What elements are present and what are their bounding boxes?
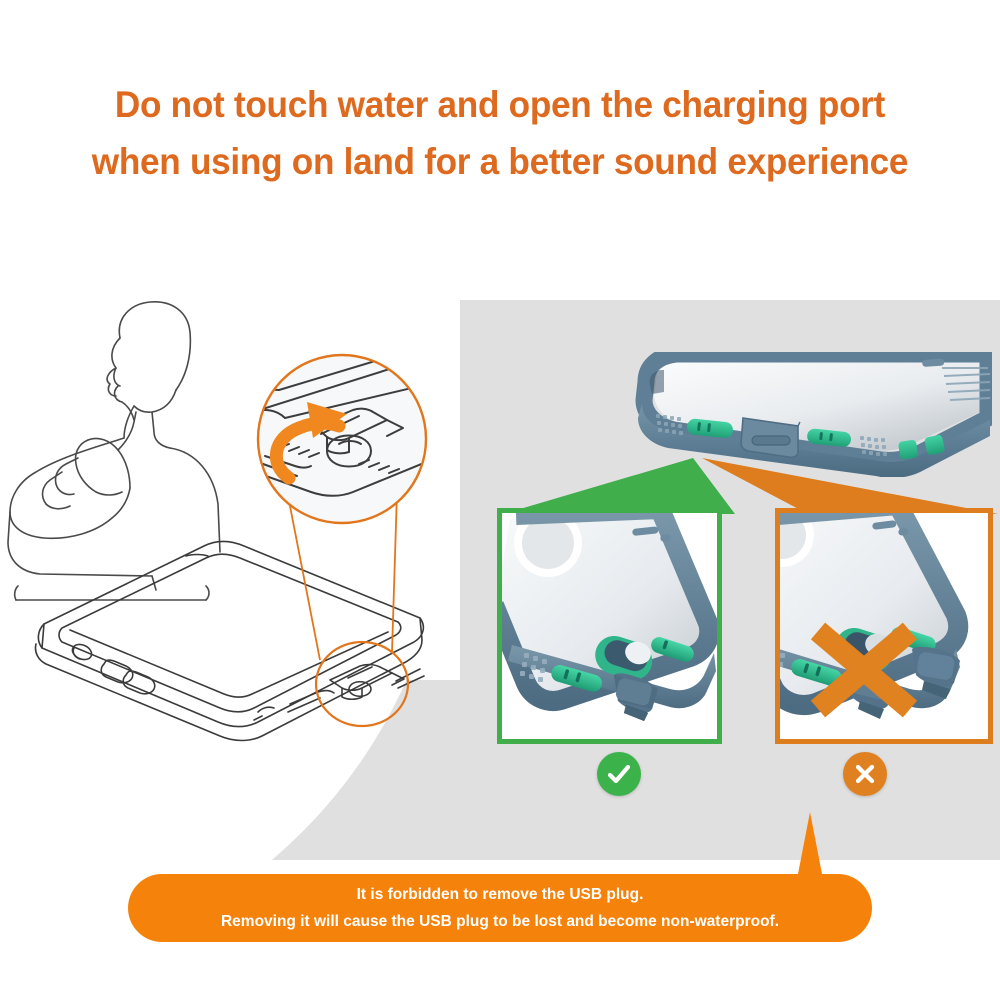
page-title: Do not touch water and open the charging…	[0, 76, 1000, 191]
person-hair-outline	[119, 302, 190, 390]
banner-line-1: It is forbidden to remove the USB plug.	[357, 881, 644, 908]
phone-case-side	[35, 618, 422, 741]
charging-port-magnifier	[255, 352, 430, 527]
x-circle-icon	[843, 752, 887, 796]
warning-banner: It is forbidden to remove the USB plug. …	[128, 874, 872, 942]
headline-line-1: Do not touch water and open the charging…	[25, 76, 975, 133]
banner-line-2: Removing it will cause the USB plug to b…	[221, 908, 779, 935]
phone-case-body	[38, 542, 423, 727]
correct-usage-photo	[497, 508, 722, 744]
orange-pointer-wedge	[700, 458, 1000, 514]
headline-line-2: when using on land for a better sound ex…	[25, 133, 975, 190]
check-circle-icon	[597, 752, 641, 796]
infographic-page: Do not touch water and open the charging…	[0, 0, 1000, 1000]
incorrect-usage-photo	[775, 508, 993, 744]
banner-up-arrow	[792, 812, 828, 878]
person-face-upper	[112, 338, 120, 386]
